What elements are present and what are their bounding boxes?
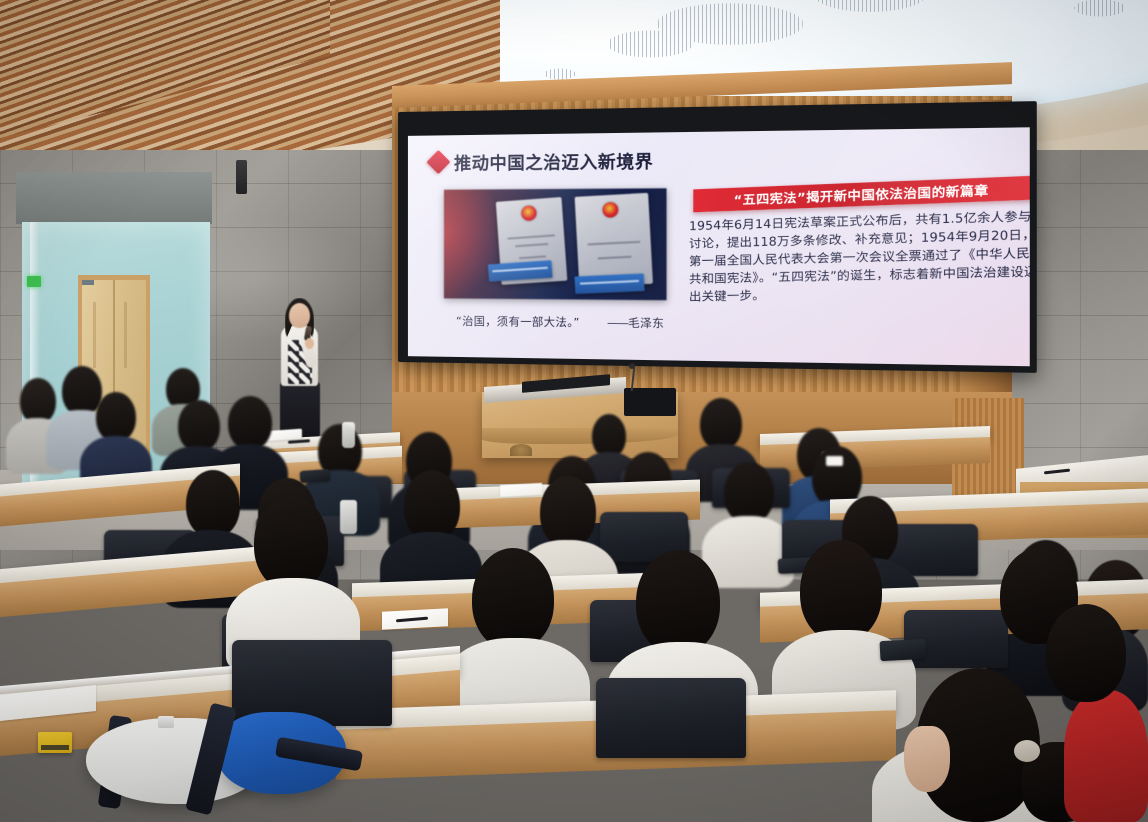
chair — [596, 678, 746, 758]
caption-dash: —— — [607, 316, 628, 330]
book-text-line — [598, 256, 632, 260]
student-head — [472, 548, 554, 650]
door-panel-right — [124, 302, 127, 368]
plaque-text-line — [493, 267, 548, 273]
foreground-person-hand — [904, 726, 950, 792]
hair-tie-icon — [1014, 740, 1040, 762]
foreground-person-body — [1064, 690, 1148, 822]
yellow-packet — [38, 732, 72, 753]
glass-partition-header — [16, 172, 212, 224]
lectern-emblem — [510, 444, 532, 456]
book-text-line — [519, 255, 545, 259]
book-text-line — [507, 234, 554, 239]
student-head — [254, 496, 328, 590]
presenter-head — [289, 303, 310, 328]
national-emblem-icon — [521, 205, 537, 221]
national-emblem-icon — [602, 202, 619, 218]
student-head — [228, 396, 272, 450]
packet-stripe — [41, 745, 69, 750]
slide-title-text: 推动中国之治迈入新境界 — [454, 147, 653, 175]
door-panel-left — [93, 302, 96, 368]
foreground-person-head — [1046, 604, 1126, 702]
book-text-line — [587, 241, 640, 246]
lecture-hall-screenshot: 推动中国之治迈入新境界 — [0, 0, 1148, 822]
student-head — [636, 550, 720, 654]
wall-speaker-icon — [236, 160, 247, 194]
smartphone — [300, 469, 331, 483]
student-body — [702, 516, 794, 588]
slide-banner-text: “五四宪法”揭开新中国依法治国的新篇章 — [734, 180, 989, 208]
book-text-line — [515, 243, 548, 247]
smartphone — [880, 639, 927, 661]
hair-clip-icon — [826, 456, 843, 466]
lectern-side-monitor — [624, 388, 676, 416]
water-bottle — [340, 500, 357, 534]
student-head — [96, 392, 136, 442]
slide-body-text: 1954年6月14日宪法草案正式公布后，共有1.5亿余人参与讨论，提出118万多… — [689, 207, 1030, 306]
blue-plaque-right — [574, 273, 644, 294]
student-head — [540, 476, 596, 548]
red-diamond-icon — [426, 150, 450, 174]
slide-red-banner: “五四宪法”揭开新中国依法治国的新篇章 — [693, 176, 1029, 212]
lectern-microphone-icon — [629, 363, 635, 369]
student-head — [700, 398, 742, 450]
door-handle[interactable] — [82, 280, 94, 285]
exit-sign-icon — [27, 276, 41, 287]
student-head — [800, 540, 882, 642]
water-bottle — [342, 422, 355, 448]
student-head — [178, 400, 220, 452]
caption-attribution: 毛泽东 — [628, 316, 664, 330]
slide-surface: 推动中国之治迈入新境界 — [408, 127, 1030, 366]
backpack-buckle — [158, 716, 174, 728]
paper-sheet — [500, 483, 542, 497]
slide-photo-constitution-books — [444, 188, 667, 300]
student-head — [724, 462, 774, 524]
slide-photo-caption: “治国，须有一部大法。”——毛泽东 — [456, 313, 664, 332]
student-head — [186, 470, 240, 538]
presenter-hand — [305, 338, 314, 349]
presentation-screen[interactable]: 推动中国之治迈入新境界 — [398, 101, 1037, 373]
caption-quote: “治国，须有一部大法。” — [456, 315, 580, 330]
plaque-text-line — [580, 280, 640, 285]
slide-title: 推动中国之治迈入新境界 — [430, 147, 653, 175]
